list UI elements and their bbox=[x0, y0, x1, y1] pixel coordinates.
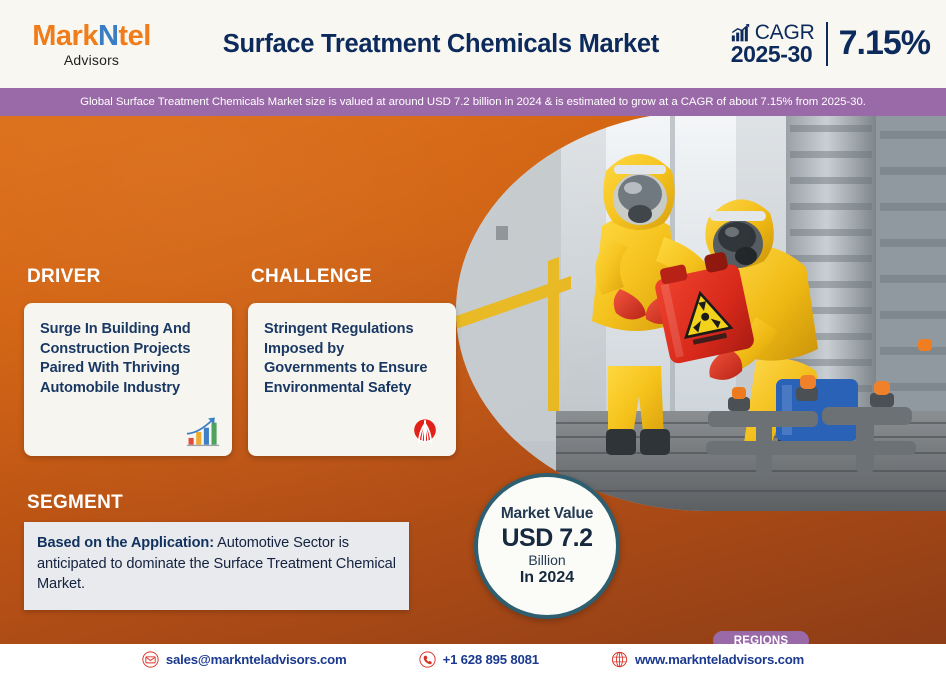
market-value-title: Market Value bbox=[501, 505, 593, 522]
footer-phone[interactable]: +1 628 895 8081 bbox=[419, 651, 539, 668]
header: MarkNtel Advisors Surface Treatment Chem… bbox=[0, 0, 946, 88]
market-value-badge: Market Value USD 7.2 Billion In 2024 bbox=[474, 473, 620, 619]
summary-banner-text: Global Surface Treatment Chemicals Marke… bbox=[80, 96, 866, 108]
bar-chart-growth-icon bbox=[731, 23, 751, 43]
driver-text: Surge In Building And Construction Proje… bbox=[24, 303, 232, 399]
phone-icon bbox=[419, 651, 436, 668]
main-body: DRIVER Surge In Building And Constructio… bbox=[0, 116, 946, 644]
footer-email[interactable]: sales@marknteladvisors.com bbox=[142, 651, 347, 668]
footer: sales@marknteladvisors.com +1 628 895 80… bbox=[0, 644, 946, 674]
cagr-value: 7.15% bbox=[839, 24, 930, 63]
cagr-label: CAGR bbox=[755, 22, 815, 43]
globe-icon bbox=[611, 651, 628, 668]
footer-email-text: sales@marknteladvisors.com bbox=[166, 652, 347, 667]
market-value-amount: USD 7.2 bbox=[502, 524, 593, 552]
logo-tagline: Advisors bbox=[64, 53, 119, 67]
cagr-label-group: CAGR 2025-30 bbox=[731, 22, 815, 67]
hero-photo bbox=[456, 116, 946, 511]
email-icon bbox=[142, 651, 159, 668]
driver-label: DRIVER bbox=[27, 266, 101, 288]
market-value-year: In 2024 bbox=[520, 569, 574, 587]
logo-text-n: N bbox=[98, 20, 118, 52]
cagr-divider bbox=[826, 22, 828, 66]
cagr-block: CAGR 2025-30 7.15% bbox=[731, 22, 946, 67]
regulation-seal-icon bbox=[410, 416, 444, 448]
cagr-period: 2025-30 bbox=[731, 43, 813, 66]
challenge-label: CHALLENGE bbox=[251, 266, 372, 288]
segment-lead: Based on the Application: bbox=[37, 535, 214, 551]
summary-banner: Global Surface Treatment Chemicals Marke… bbox=[0, 88, 946, 116]
footer-website-text: www.marknteladvisors.com bbox=[635, 652, 804, 667]
segment-text: Based on the Application: Automotive Sec… bbox=[24, 522, 409, 595]
footer-website[interactable]: www.marknteladvisors.com bbox=[611, 651, 804, 668]
logo-wordmark: MarkNtel bbox=[32, 22, 151, 51]
logo-text-tel: tel bbox=[118, 20, 150, 52]
segment-label: SEGMENT bbox=[27, 492, 123, 514]
page-title: Surface Treatment Chemicals Market bbox=[165, 30, 731, 59]
market-value-unit: Billion bbox=[528, 553, 565, 569]
growth-bar-chart-icon bbox=[186, 416, 220, 448]
segment-card: Based on the Application: Automotive Sec… bbox=[24, 522, 409, 610]
regions-badge: REGIONS bbox=[713, 631, 809, 644]
infographic-root: MarkNtel Advisors Surface Treatment Chem… bbox=[0, 0, 946, 674]
challenge-card: Stringent Regulations Imposed by Governm… bbox=[248, 303, 456, 456]
footer-phone-text: +1 628 895 8081 bbox=[443, 652, 539, 667]
company-logo[interactable]: MarkNtel Advisors bbox=[0, 22, 165, 67]
driver-card: Surge In Building And Construction Proje… bbox=[24, 303, 232, 456]
logo-text-mark: Mark bbox=[32, 20, 98, 52]
challenge-text: Stringent Regulations Imposed by Governm… bbox=[248, 303, 456, 399]
cagr-label-row: CAGR bbox=[731, 22, 815, 43]
